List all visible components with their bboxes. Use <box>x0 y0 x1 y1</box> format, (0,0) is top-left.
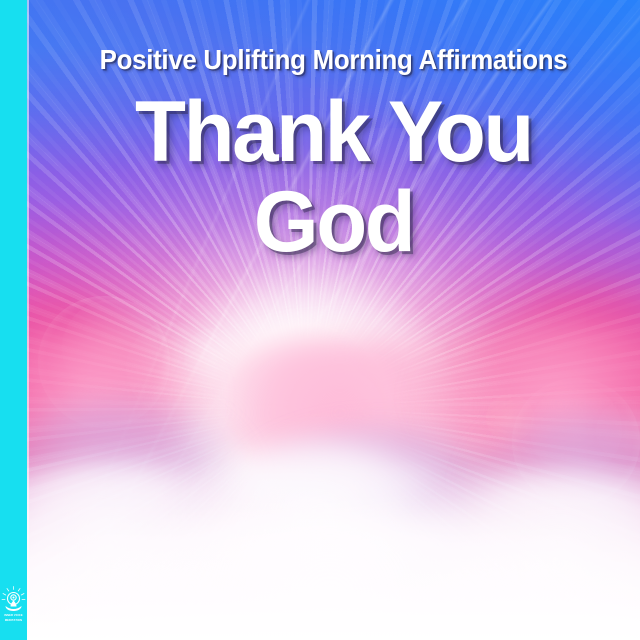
brand-sidebar: INNER VOICE MEDITATION <box>0 0 27 640</box>
sky-magenta-glow <box>0 0 640 640</box>
brand-name-line-2: MEDITATION <box>1 619 26 622</box>
brand-logo[interactable]: INNER VOICE MEDITATION <box>1 586 26 622</box>
album-cover: Positive Uplifting Morning Affirmations … <box>0 0 640 640</box>
brand-name-line-1: INNER VOICE <box>1 614 26 617</box>
meditation-lotus-icon <box>1 586 26 613</box>
